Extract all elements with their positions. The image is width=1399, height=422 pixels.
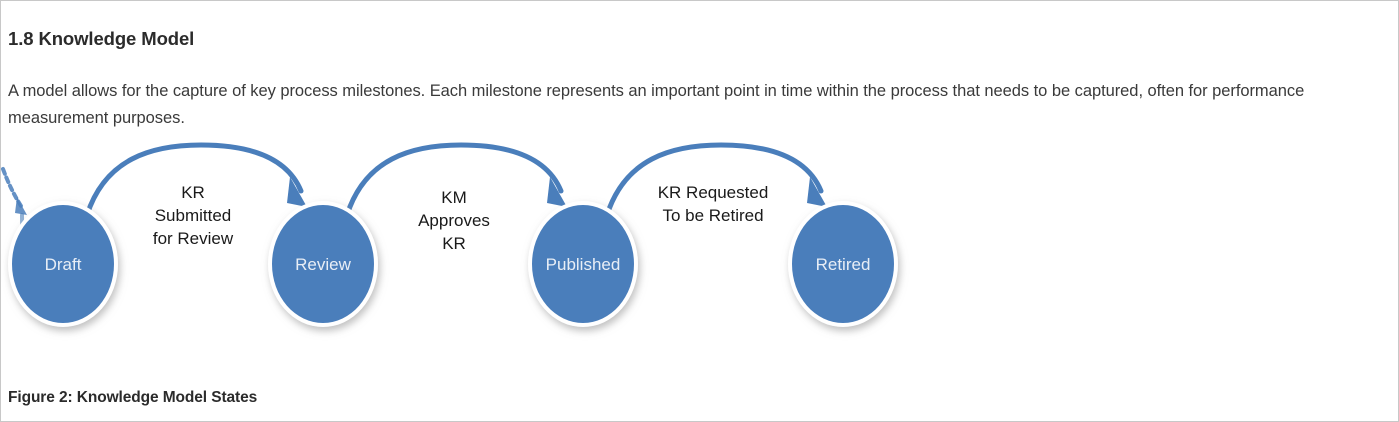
edge-label-line: KR [442, 234, 466, 253]
edge-label-line: To be Retired [662, 206, 763, 225]
edge-label-line: KR [181, 183, 205, 202]
node-review[interactable]: Review [268, 201, 378, 327]
document-page: 1.8 Knowledge Model A model allows for t… [0, 0, 1399, 422]
node-retired[interactable]: Retired [788, 201, 898, 327]
arrow-curve-published-to-retired [607, 145, 821, 215]
edge-label-line: Submitted [155, 206, 232, 225]
edge-published-to-retired [607, 145, 827, 215]
arrow-curve-draft-to-review [87, 145, 301, 215]
node-draft[interactable]: Draft [8, 201, 118, 327]
figure-caption: Figure 2: Knowledge Model States [8, 389, 257, 407]
page-title: 1.8 Knowledge Model [8, 28, 194, 50]
node-retired-label: Retired [816, 255, 871, 274]
edge-label-line: KM [441, 188, 467, 207]
node-published-label: Published [546, 255, 621, 274]
edge-label-review-to-published: KM Approves KR [418, 188, 490, 253]
node-draft-label: Draft [45, 255, 82, 274]
node-published[interactable]: Published [528, 201, 638, 327]
edge-label-line: KR Requested [658, 183, 769, 202]
edge-label-draft-to-review: KR Submitted for Review [153, 183, 234, 248]
knowledge-model-diagram: Draft Review Published Retired KR Submi [1, 141, 981, 371]
edge-label-line: Approves [418, 211, 490, 230]
edge-draft-to-review [87, 145, 307, 215]
edge-label-published-to-retired: KR Requested To be Retired [658, 183, 769, 225]
body-paragraph: A model allows for the capture of key pr… [8, 78, 1378, 132]
edge-label-line: for Review [153, 229, 234, 248]
node-review-label: Review [295, 255, 351, 274]
